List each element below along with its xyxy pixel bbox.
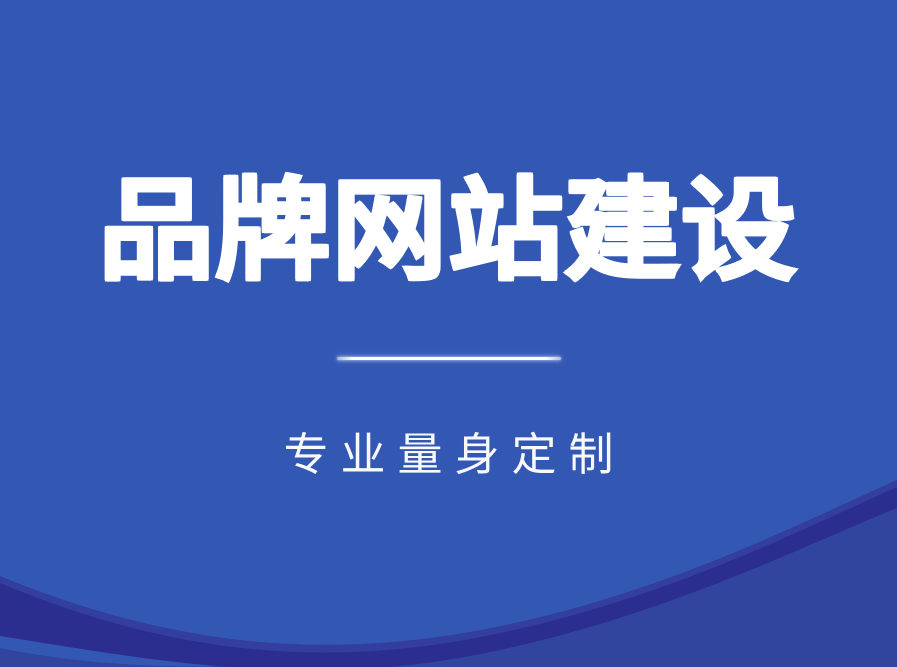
- headline-title: 品牌网站建设: [0, 168, 897, 296]
- subtitle-text: 专业量身定制: [0, 424, 897, 486]
- decorative-divider: [337, 357, 561, 360]
- divider-container: [0, 352, 897, 366]
- banner-content: 品牌网站建设 专业量身定制: [0, 0, 897, 667]
- promo-banner: 品牌网站建设 专业量身定制: [0, 0, 897, 667]
